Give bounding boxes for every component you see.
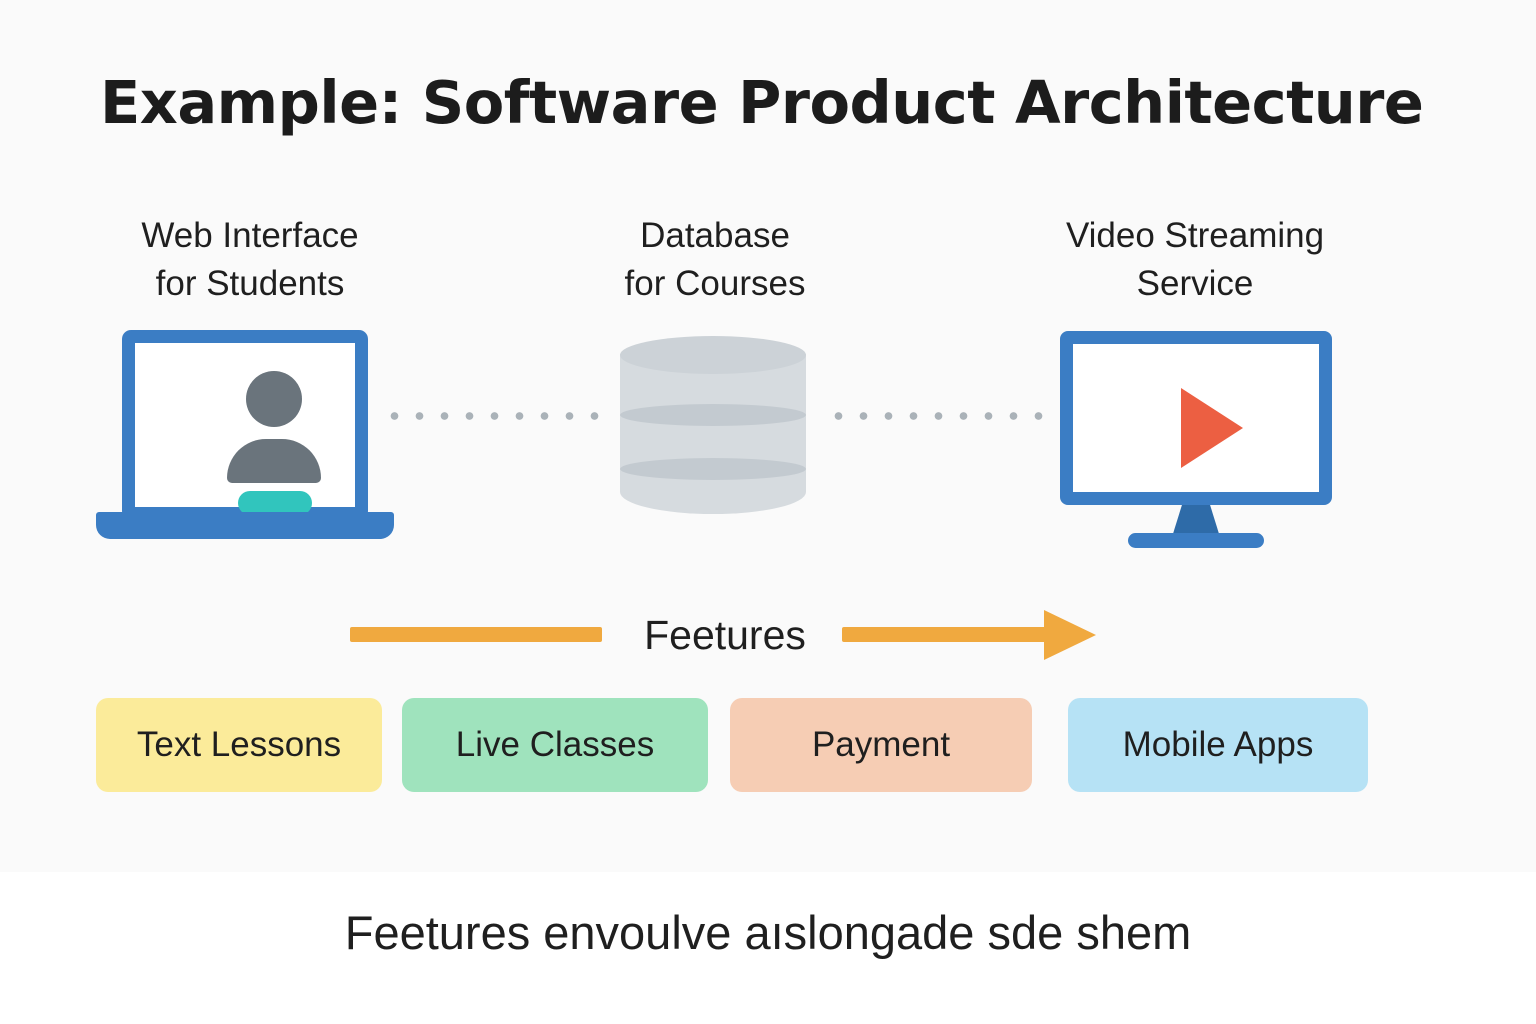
feature-chip-label: Text Lessons: [137, 725, 341, 765]
arrow-label: Feetures: [612, 600, 838, 670]
connector-web-to-database: [382, 410, 612, 422]
feature-chip-label: Mobile Apps: [1123, 725, 1314, 765]
arrow-head-icon: [1044, 610, 1096, 660]
feature-chip-label: Payment: [812, 725, 950, 765]
diagram-canvas: Example: Software Product Architecture W…: [0, 0, 1536, 1024]
user-body-shape: [227, 439, 321, 483]
node-label-database: Database for Courses: [545, 212, 885, 308]
feature-chip-text-lessons[interactable]: Text Lessons: [96, 698, 382, 792]
monitor-stand-foot: [1128, 533, 1264, 548]
feature-chip-mobile-apps[interactable]: Mobile Apps: [1068, 698, 1368, 792]
play-triangle-icon: [1181, 388, 1243, 468]
cylinder-top-ellipse: [620, 336, 806, 374]
monitor-screen-bezel: [1060, 331, 1332, 505]
feature-chip-live-classes[interactable]: Live Classes: [402, 698, 708, 792]
laptop-screen-bezel: [122, 330, 368, 520]
laptop-base: [96, 512, 394, 539]
cylinder-ring-2: [620, 458, 806, 480]
features-flow-arrow: Feetures: [350, 600, 1110, 670]
diagram-caption: Feetures envoulve aıslongade sde shem: [0, 902, 1536, 964]
node-label-web-interface: Web Interface for Students: [80, 212, 420, 308]
arrow-shaft-left: [350, 627, 602, 642]
feature-chip-list: Text Lessons Live Classes Payment Mobile…: [96, 698, 1368, 792]
arrow-shaft-right: [842, 627, 1050, 642]
page-title: Example: Software Product Architecture: [100, 66, 1423, 140]
user-head-shape: [246, 371, 302, 427]
connector-database-to-video: [826, 410, 1054, 422]
node-label-video-service: Video Streaming Service: [1020, 212, 1370, 308]
feature-chip-payment[interactable]: Payment: [730, 698, 1032, 792]
cylinder-ring-1: [620, 404, 806, 426]
feature-chip-label: Live Classes: [456, 725, 654, 765]
database-cylinder-icon: [620, 336, 806, 532]
